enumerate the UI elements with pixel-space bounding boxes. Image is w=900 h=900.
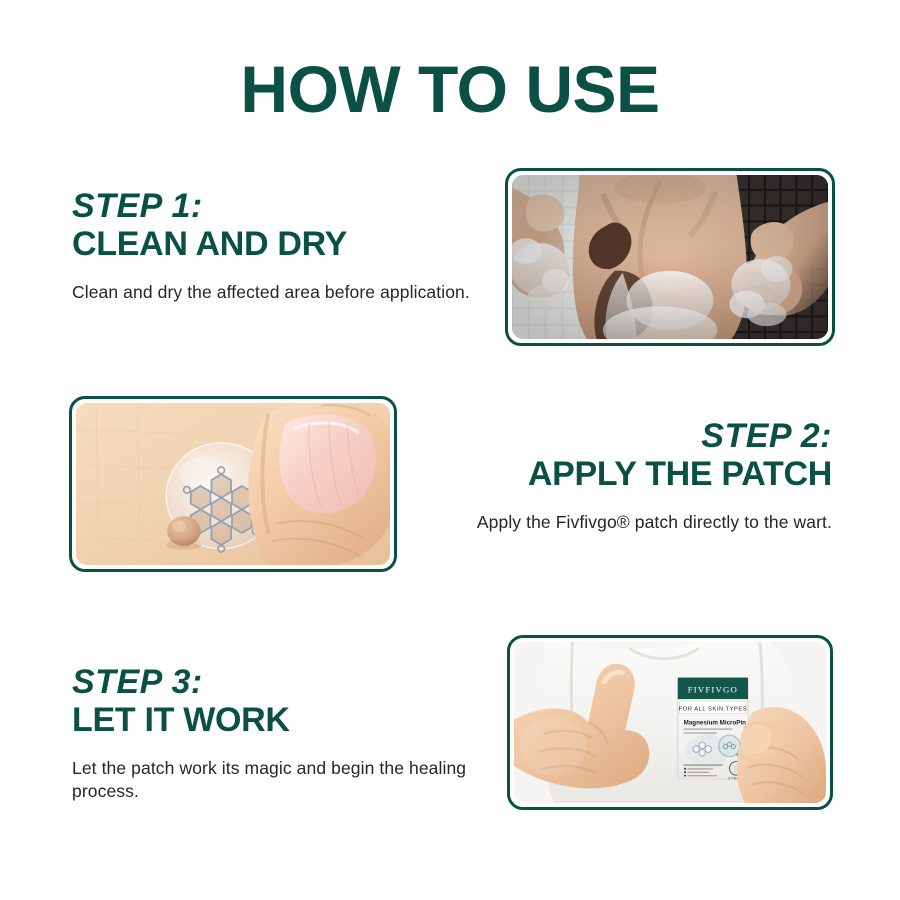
patch-application-illustration bbox=[76, 403, 390, 565]
step-3-heading: LET IT WORK bbox=[72, 701, 492, 739]
photo-applying-patch-canvas bbox=[76, 403, 390, 565]
step-2-body: Apply the Fivfivgo® patch directly to th… bbox=[372, 511, 832, 535]
step-2-kicker: STEP 2: bbox=[372, 418, 832, 455]
washing-torso-illustration bbox=[512, 175, 828, 339]
step-1-body: Clean and dry the affected area before a… bbox=[72, 281, 472, 305]
svg-text:FIVFIVGO: FIVFIVGO bbox=[688, 684, 738, 694]
step-1-kicker: STEP 1: bbox=[72, 188, 472, 225]
step-2-text-block: STEP 2: APPLY THE PATCH Apply the Fivfiv… bbox=[372, 418, 832, 534]
photo-applying-patch bbox=[69, 396, 397, 572]
step-3-body: Let the patch work its magic and begin t… bbox=[72, 757, 492, 804]
svg-text:FOR ALL SKIN TYPES: FOR ALL SKIN TYPES bbox=[679, 706, 748, 712]
svg-text:Magnesium MicroPin: Magnesium MicroPin bbox=[684, 719, 747, 726]
step-3-kicker: STEP 3: bbox=[72, 664, 492, 701]
step-3-text-block: STEP 3: LET IT WORK Let the patch work i… bbox=[72, 664, 492, 804]
page-title: HOW TO USE bbox=[0, 56, 900, 122]
step-2-heading: APPLY THE PATCH bbox=[372, 455, 832, 493]
photo-thumbs-up-package-canvas: FIVFIVGO FOR ALL SKIN TYPES Magnesium Mi… bbox=[514, 642, 826, 803]
photo-washing-torso bbox=[505, 168, 835, 346]
thumbs-up-package-illustration: FIVFIVGO FOR ALL SKIN TYPES Magnesium Mi… bbox=[514, 642, 826, 803]
step-1-text-block: STEP 1: CLEAN AND DRY Clean and dry the … bbox=[72, 188, 472, 304]
photo-thumbs-up-package: FIVFIVGO FOR ALL SKIN TYPES Magnesium Mi… bbox=[507, 635, 833, 810]
step-1-heading: CLEAN AND DRY bbox=[72, 225, 472, 263]
photo-washing-torso-canvas bbox=[512, 175, 828, 339]
